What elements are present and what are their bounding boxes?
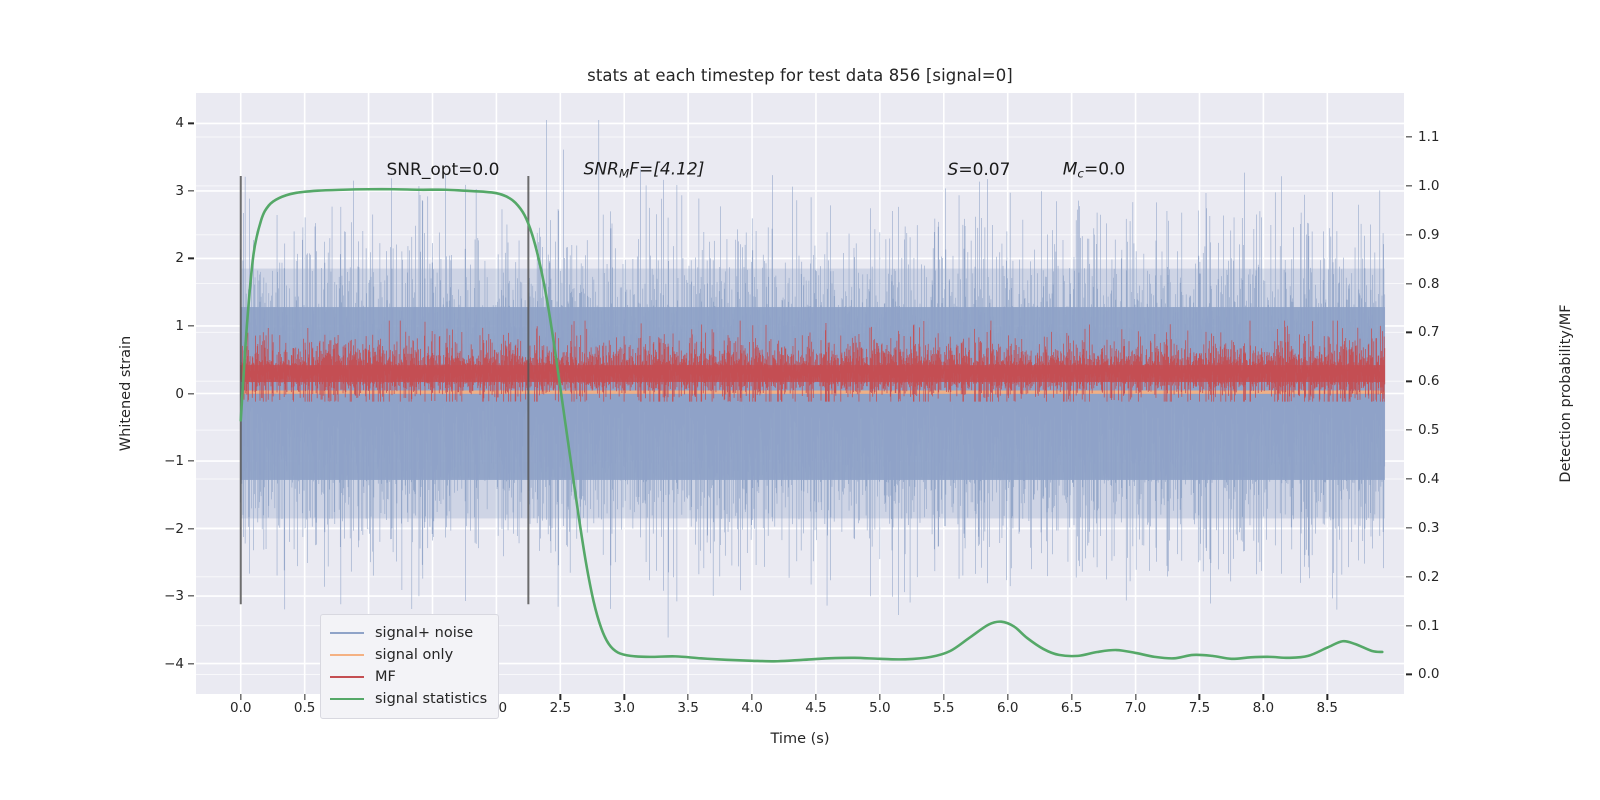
annotation-snr-mf-prefix: SNR [584,160,619,180]
annotation-snr-opt: SNR_opt=0.0 [387,160,500,180]
y-axis-tick-mark-left [188,258,194,259]
annotation-s-prefix: S [948,160,959,180]
y-axis-tick-mark-left [188,393,194,394]
y-axis-tick-label-right: 1.0 [1418,178,1439,194]
y-axis-tick-mark-left [188,595,194,596]
y-axis-tick-label-left: −4 [164,656,184,672]
y-axis-tick-label-right: 0.8 [1418,276,1439,292]
x-axis-tick-mark [1199,694,1200,700]
y-axis-tick-mark-right [1406,381,1412,382]
annotation-snr-mf: SNRMF=[4.12] [584,160,705,181]
x-axis-tick-label: 4.0 [741,700,762,716]
x-axis-tick-mark [1071,694,1072,700]
y-axis-tick-mark-right [1406,185,1412,186]
x-axis-tick-label: 4.5 [805,700,826,716]
y-axis-tick-mark-left [188,123,194,124]
y-axis-tick-mark-right [1406,576,1412,577]
x-axis-tick-label: 3.5 [677,700,698,716]
x-axis-tick-label: 7.5 [1189,700,1210,716]
y-axis-tick-mark-right [1406,674,1412,675]
x-axis-tick-label: 0.5 [294,700,315,716]
x-axis-tick-label: 0.0 [230,700,251,716]
plot-area [196,93,1404,694]
y-axis-tick-mark-right [1406,478,1412,479]
y-axis-tick-mark-left [188,663,194,664]
y-axis-tick-label-left: 2 [175,250,184,266]
legend-item-label: MF [375,669,396,685]
y-axis-tick-label-right: 0.7 [1418,324,1439,340]
legend-color-swatch [330,632,364,634]
annotation-mc-prefix: M [1063,160,1078,180]
legend-item[interactable]: signal statistics [330,688,487,710]
x-axis-tick-mark [815,694,816,700]
y-axis-tick-label-left: 4 [175,115,184,131]
legend-item-label: signal only [375,647,453,663]
x-axis-tick-mark [943,694,944,700]
x-axis-tick-mark [1135,694,1136,700]
y-axis-tick-label-right: 0.4 [1418,471,1439,487]
y-axis-tick-mark-left [188,528,194,529]
x-axis-tick-mark [687,694,688,700]
x-axis-tick-label: 5.5 [933,700,954,716]
x-axis-tick-mark [1007,694,1008,700]
x-axis-tick-mark [1327,694,1328,700]
y-axis-tick-mark-left [188,325,194,326]
y-axis-tick-label-left: 1 [175,318,184,334]
legend-item-label: signal statistics [375,691,487,707]
y-axis-tick-mark-right [1406,136,1412,137]
y-axis-tick-label-right: 0.2 [1418,569,1439,585]
y-axis-tick-label-left: −2 [164,521,184,537]
y-axis-tick-mark-right [1406,625,1412,626]
x-axis-tick-label: 5.0 [869,700,890,716]
y-axis-tick-mark-right [1406,234,1412,235]
legend-color-swatch [330,676,364,678]
x-axis-tick-label: 2.5 [550,700,571,716]
y-axis-tick-mark-right [1406,429,1412,430]
legend-color-swatch [330,698,364,700]
annotation-s-statistic: S=0.07 [948,160,1011,180]
x-axis-tick-label: 8.5 [1317,700,1338,716]
y-axis-tick-mark-right [1406,527,1412,528]
x-axis-tick-mark [879,694,880,700]
x-axis-tick-label: 8.0 [1253,700,1274,716]
annotation-s-suffix: =0.07 [958,160,1010,180]
page-title: stats at each timestep for test data 856… [0,66,1600,85]
x-axis-label: Time (s) [196,731,1404,747]
y-axis-tick-label-right: 0.9 [1418,227,1439,243]
x-axis-tick-mark [1263,694,1264,700]
x-axis-tick-mark [751,694,752,700]
x-axis-tick-label: 6.0 [997,700,1018,716]
y-axis-tick-mark-left [188,190,194,191]
x-axis-tick-mark [624,694,625,700]
y-axis-tick-label-right: 0.6 [1418,373,1439,389]
annotation-chirp-mass: Mc=0.0 [1063,160,1126,181]
plot-svg [196,93,1404,694]
legend-item[interactable]: signal only [330,644,487,666]
y-axis-tick-label-right: 0.5 [1418,422,1439,438]
legend-item[interactable]: MF [330,666,487,688]
x-axis-tick-label: 3.0 [613,700,634,716]
x-axis-tick-label: 6.5 [1061,700,1082,716]
y-axis-tick-mark-right [1406,332,1412,333]
x-axis-tick-mark [240,694,241,700]
x-axis-tick-mark [304,694,305,700]
y-axis-tick-label-right: 1.1 [1418,129,1439,145]
y-axis-tick-label-left: −1 [164,453,184,469]
y-axis-tick-label-left: −3 [164,588,184,604]
figure: stats at each timestep for test data 856… [0,0,1600,800]
y-axis-tick-label-left: 0 [175,386,184,402]
legend-item[interactable]: signal+ noise [330,622,487,644]
y-axis-tick-mark-right [1406,283,1412,284]
x-axis-tick-label: 7.0 [1125,700,1146,716]
y-axis-tick-mark-left [188,460,194,461]
y-axis-tick-label-left: 3 [175,183,184,199]
annotation-snr-mf-subscript: M [619,166,629,180]
x-axis-tick-mark [560,694,561,700]
annotation-snr-opt-text: SNR_opt=0.0 [387,160,500,180]
annotation-snr-mf-suffix: F=[4.12] [629,160,704,180]
y-axis-tick-label-right: 0.0 [1418,666,1439,682]
y-axis-tick-label-right: 0.3 [1418,520,1439,536]
legend-item-label: signal+ noise [375,625,473,641]
y-axis-tick-label-right: 0.1 [1418,618,1439,634]
mf-core-band [241,365,1385,382]
y-axis-label-right: Detection probability/MF [1558,93,1574,694]
y-axis-label-left: Whitened strain [118,93,134,694]
annotation-mc-suffix: =0.0 [1084,160,1125,180]
legend-color-swatch [330,654,364,656]
legend[interactable]: signal+ noisesignal onlyMFsignal statist… [320,614,499,719]
